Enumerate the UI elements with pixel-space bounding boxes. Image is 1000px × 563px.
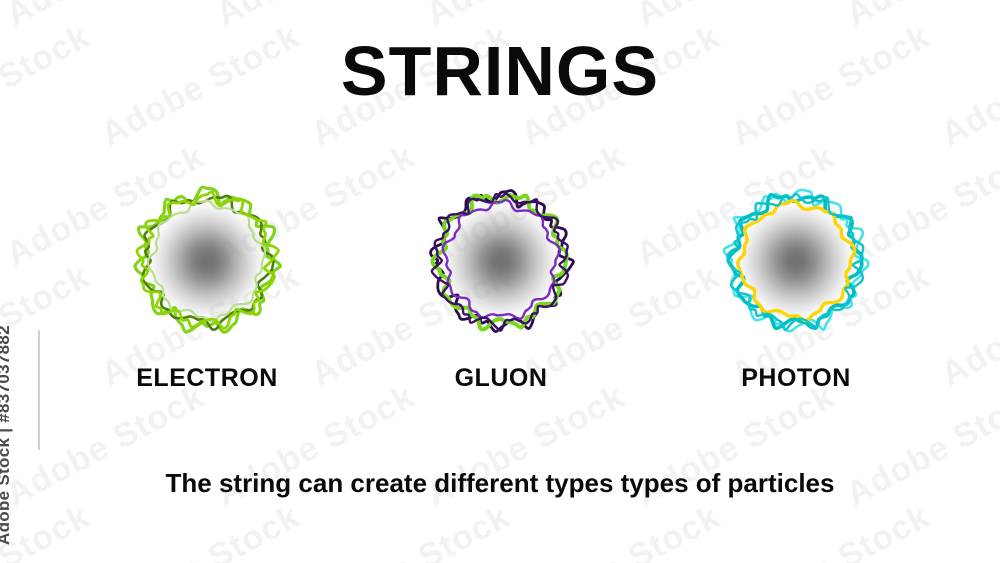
electron-bright-green-string xyxy=(135,187,280,332)
watermark-tile: Adobe Stock xyxy=(305,497,517,563)
particle-label-photon: PHOTON xyxy=(681,364,911,393)
watermark-tile: Adobe Stock xyxy=(420,0,632,34)
adobe-stock-watermark: Adobe Stock | #837037882 xyxy=(0,325,14,545)
electron-string-loops xyxy=(107,178,307,343)
page-title: STRINGS xyxy=(0,36,1000,106)
photon-yellow-string xyxy=(738,201,855,321)
particle-photon: PHOTON xyxy=(681,178,911,408)
particle-label-electron: ELECTRON xyxy=(92,364,322,393)
photon-light-cyan-string xyxy=(724,190,869,331)
gluon-medium-purple-string xyxy=(443,200,560,319)
gluon-indigo-string xyxy=(431,190,574,331)
electron-lime-green-string xyxy=(137,192,279,328)
watermark-tile: Adobe Stock xyxy=(935,497,1000,563)
watermark-tile: Adobe Stock xyxy=(840,0,1000,34)
watermark-tile: Adobe Stock xyxy=(95,497,307,563)
particle-gluon: GLUON xyxy=(386,178,616,408)
watermark-tile: Adobe Stock xyxy=(0,0,2,34)
photon-string-glyph xyxy=(696,178,896,343)
particle-electron: ELECTRON xyxy=(92,178,322,408)
photon-string-loops xyxy=(696,178,896,343)
particle-row: ELECTRONGLUONPHOTON xyxy=(0,178,1000,408)
gluon-string-loops xyxy=(401,178,601,343)
watermark-tile: Adobe Stock xyxy=(725,497,937,563)
particle-label-gluon: GLUON xyxy=(386,364,616,393)
infographic-canvas: Adobe StockAdobe StockAdobe StockAdobe S… xyxy=(0,0,1000,563)
caption-text: The string can create different types ty… xyxy=(0,468,1000,499)
gluon-string-glyph xyxy=(401,178,601,343)
electron-pale-green-string xyxy=(148,201,265,322)
electron-string-glyph xyxy=(107,178,307,343)
watermark-tile: Adobe Stock xyxy=(515,497,727,563)
watermark-tile: Adobe Stock xyxy=(630,0,842,34)
watermark-tile: Adobe Stock xyxy=(0,497,97,563)
watermark-tile: Adobe Stock xyxy=(210,0,422,34)
watermark-divider-rule xyxy=(38,330,40,450)
watermark-tile: Adobe Stock xyxy=(0,0,212,34)
